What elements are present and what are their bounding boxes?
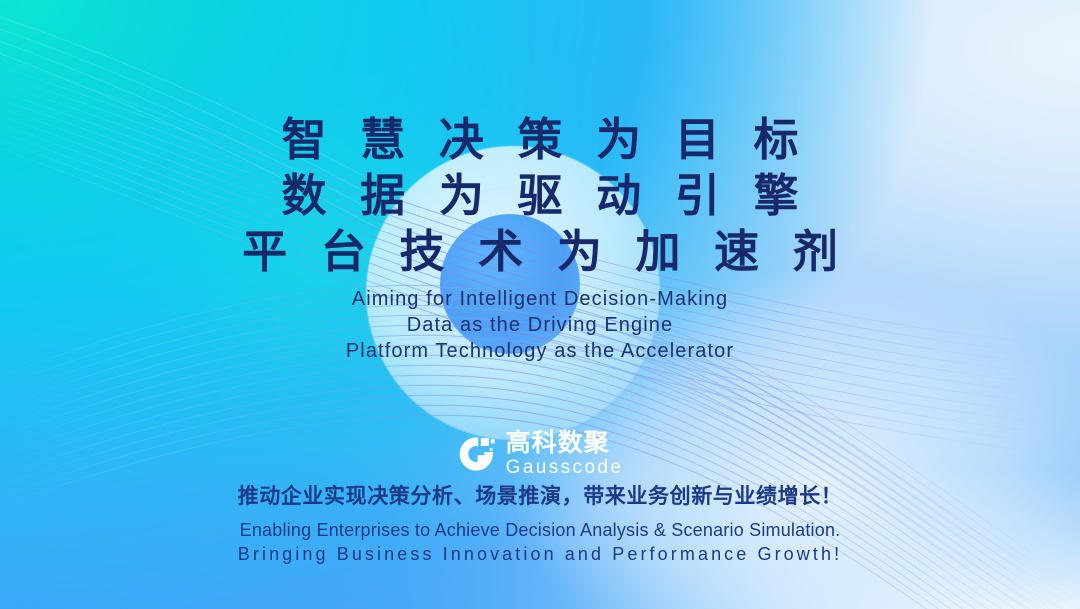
- logo-name-cn: 高科数聚: [506, 430, 624, 455]
- footer-english-line-2: Bringing Business Innovation and Perform…: [0, 542, 1080, 566]
- headline-line-2: 数 据 为 驱 动 引 擎: [233, 168, 847, 224]
- promo-poster: 智 慧 决 策 为 目 标 数 据 为 驱 动 引 擎 平 台 技 术 为 加 …: [0, 0, 1080, 609]
- brand-logo: 高科数聚 Gausscode: [457, 430, 624, 477]
- footer-chinese-tagline: 推动企业实现决策分析、场景推演，带来业务创新与业绩增长！: [0, 483, 1080, 510]
- english-subtitle-line-2: Data as the Driving Engine: [346, 312, 734, 338]
- gausscode-g-mark-icon: [457, 434, 497, 474]
- english-subtitle-block: Aiming for Intelligent Decision-Making D…: [346, 286, 734, 364]
- logo-wordmark: 高科数聚 Gausscode: [506, 430, 624, 477]
- footer-block: 推动企业实现决策分析、场景推演，带来业务创新与业绩增长！ Enabling En…: [0, 483, 1080, 566]
- logo-name-en: Gausscode: [506, 458, 624, 477]
- english-subtitle-line-3: Platform Technology as the Accelerator: [346, 338, 734, 364]
- english-subtitle-line-1: Aiming for Intelligent Decision-Making: [346, 286, 734, 312]
- headline-line-1: 智 慧 决 策 为 目 标: [233, 112, 847, 168]
- footer-english-line-1: Enabling Enterprises to Achieve Decision…: [0, 519, 1080, 542]
- headline-block: 智 慧 决 策 为 目 标 数 据 为 驱 动 引 擎 平 台 技 术 为 加 …: [233, 112, 847, 280]
- headline-line-3: 平 台 技 术 为 加 速 剂: [233, 224, 847, 280]
